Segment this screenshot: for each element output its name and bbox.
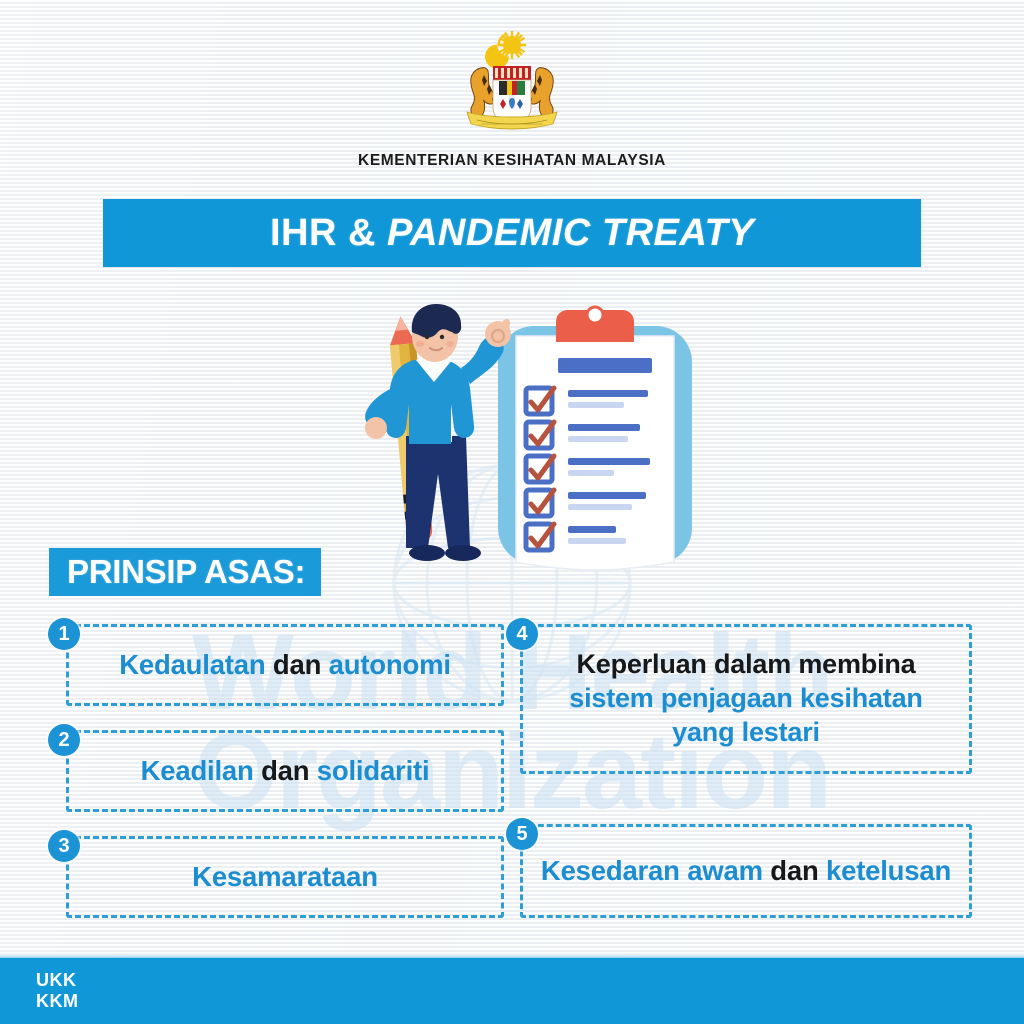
hero-illustration xyxy=(330,288,710,593)
page-title: IHR & PANDEMIC TREATY xyxy=(270,212,754,255)
title-part-italic: PANDEMIC TREATY xyxy=(387,212,754,254)
title-part-plain: IHR & xyxy=(270,212,387,254)
principle-text-4: Keperluan dalam membina sistem penjagaan… xyxy=(539,648,953,749)
principle-item-1[interactable]: Kedaulatan dan autonomi xyxy=(66,624,504,706)
principle-item-3[interactable]: Kesamarataan xyxy=(66,836,504,918)
ukk-kkm-logo: UKK KKM xyxy=(36,970,79,1011)
section-header-label: PRINSIP ASAS: xyxy=(67,553,305,591)
footer-logo-line-1: UKK xyxy=(36,970,79,991)
principle-item-4[interactable]: Keperluan dalam membina sistem penjagaan… xyxy=(520,624,972,774)
clipboard-checklist-icon xyxy=(516,307,674,570)
principle-text-3: Kesamarataan xyxy=(192,861,378,893)
principle-badge-2: 2 xyxy=(48,724,80,756)
principle-badge-4: 4 xyxy=(506,618,538,650)
section-header-banner: PRINSIP ASAS: xyxy=(49,548,321,596)
principle-badge-5: 5 xyxy=(506,818,538,850)
footer-logo-line-2: KKM xyxy=(36,991,79,1012)
ministry-name: KEMENTERIAN KESIHATAN MALAYSIA xyxy=(0,152,1024,170)
principle-text-1: Kedaulatan dan autonomi xyxy=(119,649,451,681)
principle-item-2[interactable]: Keadilan dan solidariti xyxy=(66,730,504,812)
principle-item-5[interactable]: Kesedaran awam dan ketelusan xyxy=(520,824,972,918)
principle-badge-1: 1 xyxy=(48,618,80,650)
title-banner: IHR & PANDEMIC TREATY xyxy=(103,199,921,267)
person-icon xyxy=(365,304,511,561)
principles-grid: Kedaulatan dan autonomi 1 Keadilan dan s… xyxy=(0,612,1024,942)
principle-text-2: Keadilan dan solidariti xyxy=(141,755,430,787)
principle-badge-3: 3 xyxy=(48,830,80,862)
infographic-poster: World Health Organization xyxy=(0,0,1024,1024)
footer-bar: UKK KKM xyxy=(0,958,1024,1024)
malaysia-coat-of-arms-icon xyxy=(437,28,587,146)
principle-text-5: Kesedaran awam dan ketelusan xyxy=(541,854,951,888)
header: KEMENTERIAN KESIHATAN MALAYSIA xyxy=(0,28,1024,170)
